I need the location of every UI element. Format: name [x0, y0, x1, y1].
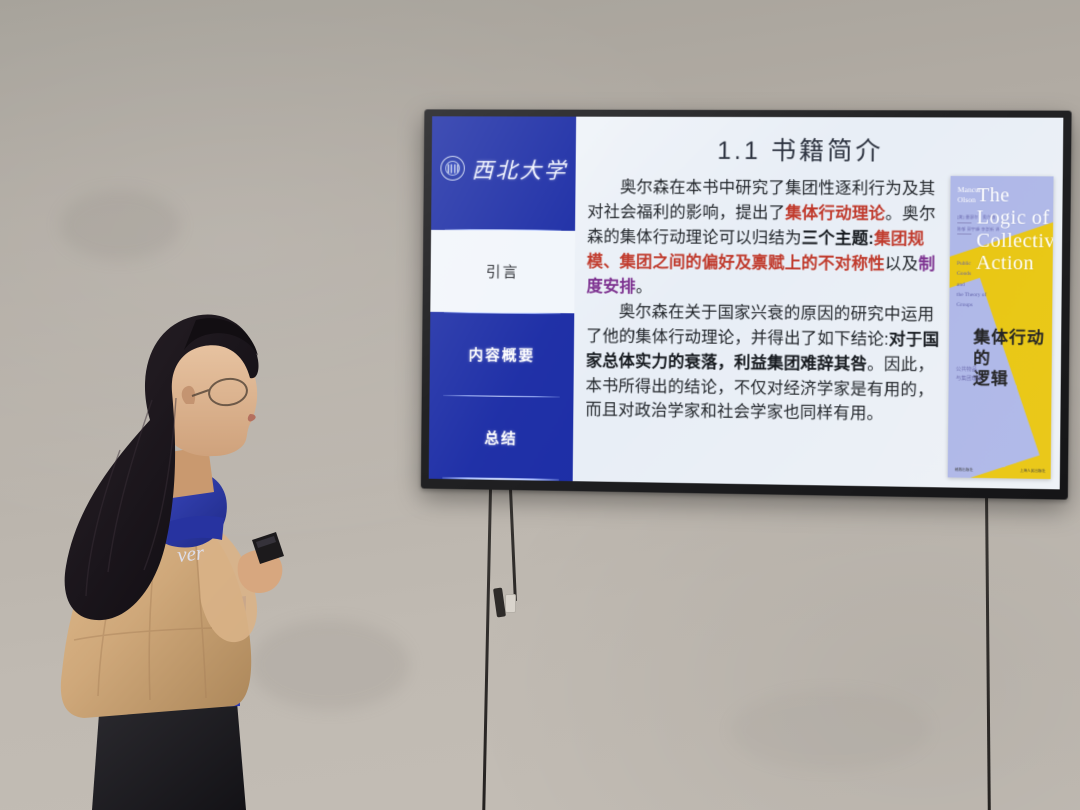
text-run: 。 — [636, 278, 653, 296]
wall-smudge — [60, 190, 180, 260]
book-cover-image: MancurOlson [美] 曼瑟尔 · 奥尔森 陈郁 郭宇峰 李崇新 译 P… — [948, 176, 1054, 479]
presenter-hair-front — [184, 318, 258, 356]
cover-subtitle-cn: 公共物品与集团理论 — [956, 366, 983, 385]
cover-rule — [957, 234, 971, 235]
power-plug — [493, 588, 506, 618]
text-run: 以及 — [885, 255, 919, 273]
publisher-right: 上海人民出版社 — [1020, 468, 1046, 473]
remote-highlight — [256, 536, 276, 548]
cover-author-en: MancurOlson — [957, 185, 981, 206]
cover-title-line: Logic of — [977, 207, 1054, 230]
slide-body: 1.1 书籍简介 奥尔森在本书中研究了集团性逐利行为及其对社会福利的影响，提出了… — [573, 117, 1063, 490]
cover-publisher: 格致出版社 上海人民出版社 — [955, 467, 1046, 474]
presenter-scarf — [145, 470, 227, 547]
presenter-lips — [248, 414, 256, 421]
paragraph-1: 奥尔森在本书中研究了集团性逐利行为及其对社会福利的影响，提出了集体行动理论。奥尔… — [586, 175, 942, 302]
cover-author-translator-cn: [美] 曼瑟尔 · 奥尔森 陈郁 郭宇峰 李崇新 译 — [957, 213, 1000, 237]
presenter-sleeve — [196, 520, 257, 642]
university-name: 西北大学 — [472, 153, 568, 185]
jacket-folds — [74, 540, 212, 700]
presenter-inner-top — [96, 662, 240, 712]
sidebar-item-overview[interactable]: 内容概要 — [430, 313, 575, 396]
seal-inner-glyph — [447, 164, 458, 173]
hair-strands — [86, 398, 176, 596]
power-outlet — [505, 594, 516, 613]
scarf-text: ver — [176, 540, 206, 567]
wall-smudge — [730, 690, 930, 770]
slide-sidebar: 西北大学 引言 内容概要 总结 — [429, 116, 577, 481]
university-seal-icon — [440, 156, 465, 181]
cover-title-line: The — [977, 184, 1054, 207]
cover-band — [948, 277, 1040, 479]
presenter-scarf-tail — [212, 596, 246, 694]
tv-cable-branch — [509, 489, 517, 601]
slide-title: 1.1 书籍简介 — [542, 127, 1063, 173]
presenter-scarf-fold — [168, 516, 224, 544]
glasses-icon — [192, 376, 249, 407]
publisher-left: 格致出版社 — [955, 467, 973, 472]
presenter-trousers — [92, 690, 246, 810]
text-run: 奥尔森在关于国家兴衰的原因的研究中运用了他的集体行动理论，并得出了如下结论: — [586, 302, 934, 348]
cover-author-cn: [美] 曼瑟尔 · 奥尔森 — [957, 214, 995, 219]
presenter-hand — [238, 550, 283, 593]
presenter-head — [157, 339, 257, 456]
cover-title-line: Collective — [976, 229, 1053, 252]
text-run: 三个主题: — [802, 229, 875, 248]
sidebar-item-intro[interactable]: 引言 — [430, 230, 575, 313]
tv-power-cable-left — [482, 489, 492, 810]
cover-rule — [957, 222, 971, 223]
tv-power-cable-right — [985, 492, 991, 810]
slide-paragraphs: 奥尔森在本书中研究了集团性逐利行为及其对社会福利的影响，提出了集体行动理论。奥尔… — [585, 175, 943, 477]
remote-control — [252, 532, 284, 564]
presenter-jacket — [61, 505, 251, 718]
presentation-slide: 西北大学 引言 内容概要 总结 1.1 书籍简介 — [429, 116, 1064, 489]
classroom-scene: 西北大学 引言 内容概要 总结 1.1 书籍简介 — [0, 0, 1080, 810]
slide-content: 奥尔森在本书中研究了集团性逐利行为及其对社会福利的影响，提出了集体行动理论。奥尔… — [573, 171, 1063, 489]
text-run: 奥尔森在本书中研究了集团性逐利行为及其对社会福利的影响，提出了 — [587, 178, 935, 222]
presenter-neck — [170, 446, 214, 498]
cover-title-line-text: Logic of — [977, 207, 1050, 230]
cover-title-en: The Logic of Collective Action — [976, 184, 1053, 275]
cover-title-cn: 集体行动的逻辑 — [973, 327, 1052, 390]
tv-screen: 西北大学 引言 内容概要 总结 1.1 书籍简介 — [429, 116, 1064, 489]
university-brand: 西北大学 — [431, 116, 576, 229]
wall-mounted-tv: 西北大学 引言 内容概要 总结 1.1 书籍简介 — [421, 109, 1072, 499]
cover-band — [948, 176, 1054, 263]
cover-title-line: Action — [976, 252, 1053, 275]
cover-translator-cn: 陈郁 郭宇峰 李崇新 译 — [957, 226, 1000, 231]
wall-smudge — [250, 620, 410, 710]
cover-subtitle-en: PublicGoodsandthe Theory ofGroups — [956, 259, 991, 311]
presenter-hair — [65, 314, 259, 620]
sidebar-item-summary[interactable]: 总结 — [429, 396, 574, 480]
tv-bezel: 西北大学 引言 内容概要 总结 1.1 书籍简介 — [421, 109, 1072, 499]
presenter-ear — [182, 386, 195, 404]
paragraph-2: 奥尔森在关于国家兴衰的原因的研究中运用了他的集体行动理论，并得出了如下结论:对于… — [585, 299, 941, 428]
text-run: 集体行动理论 — [785, 204, 885, 223]
